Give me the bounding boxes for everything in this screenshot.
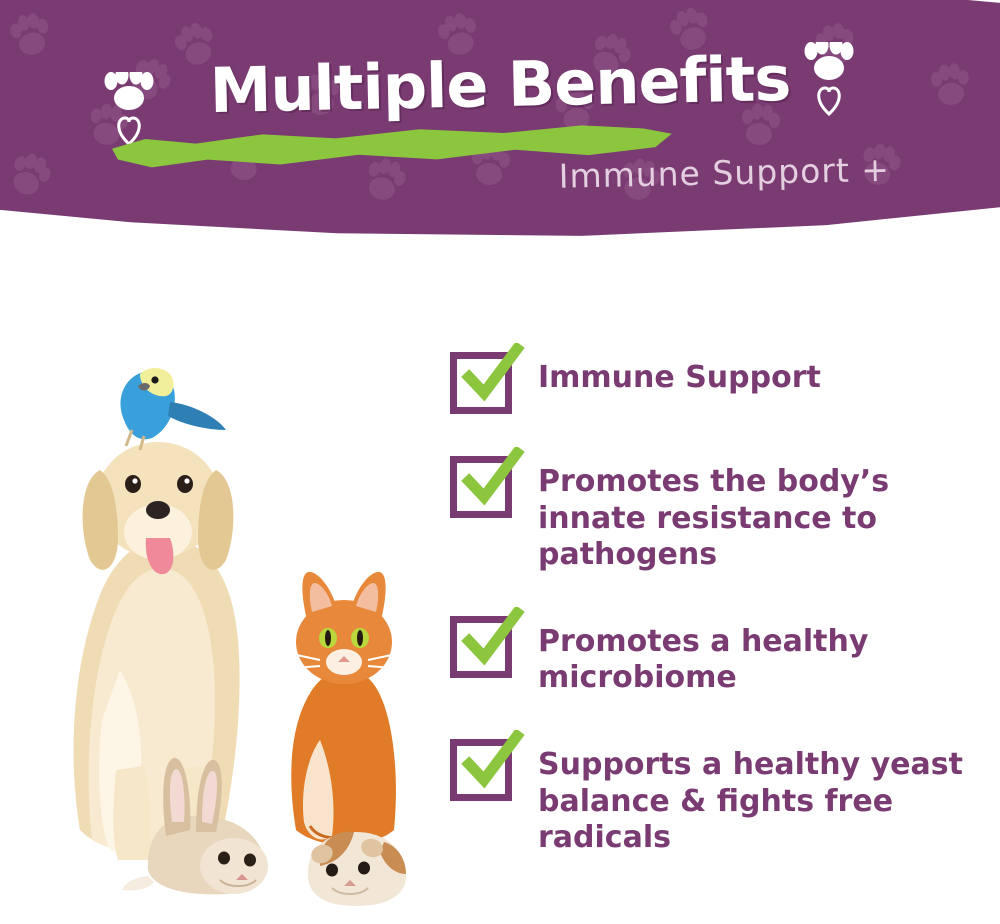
list-item: Supports a healthy yeast balance & fight… <box>450 739 980 857</box>
benefit-label: Promotes a healthy microbiome <box>538 616 968 697</box>
benefit-label: Immune Support <box>538 352 821 397</box>
checkbox-checked-icon <box>450 456 512 518</box>
benefit-label: Supports a healthy yeast balance & fight… <box>538 739 968 857</box>
checkbox-checked-icon <box>450 352 512 414</box>
pets-group-photo <box>20 270 440 920</box>
orange-tabby-cat <box>291 572 396 845</box>
budgerigar-bird <box>120 368 226 450</box>
checkbox-checked-icon <box>450 616 512 678</box>
list-item: Promotes a healthy microbiome <box>450 616 980 697</box>
benefits-list: Immune Support Promotes the body’s innat… <box>450 352 980 899</box>
list-item: Immune Support <box>450 352 980 414</box>
benefit-label: Promotes the body’s innate resistance to… <box>538 456 968 574</box>
header-banner: Multiple Benefits Immune Support + <box>0 0 1000 250</box>
guinea-pig <box>308 832 406 906</box>
checkbox-checked-icon <box>450 739 512 801</box>
list-item: Promotes the body’s innate resistance to… <box>450 456 980 574</box>
